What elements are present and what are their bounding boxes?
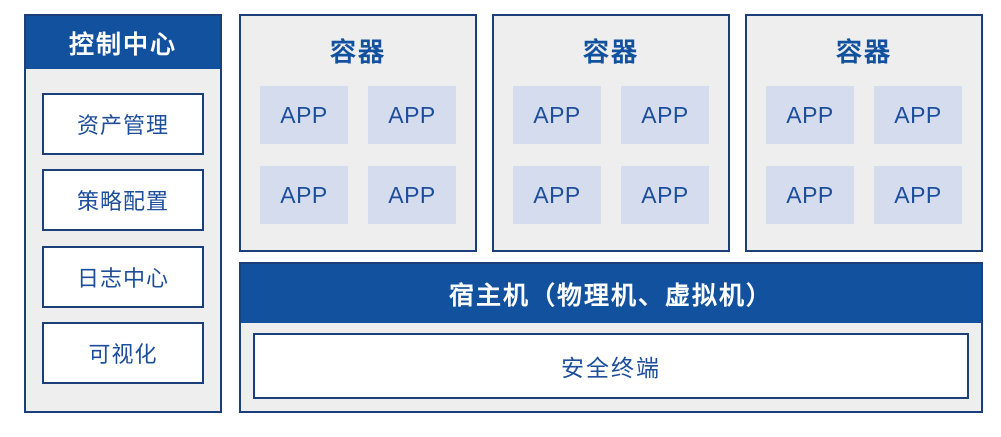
app-grid: APP APP APP APP [241,86,475,224]
control-center-title: 控制中心 [26,16,220,69]
sidebar-item-label: 资产管理 [77,108,169,140]
sidebar-item-log-center[interactable]: 日志中心 [42,246,204,308]
host-machine-title: 宿主机（物理机、虚拟机） [241,264,981,323]
app-box[interactable]: APP [368,166,456,224]
sidebar-item-label: 可视化 [88,337,157,369]
app-box[interactable]: APP [513,166,601,224]
app-box[interactable]: APP [766,166,854,224]
app-box[interactable]: APP [260,86,348,144]
sidebar-item-label: 策略配置 [77,184,169,216]
app-grid: APP APP APP APP [494,86,728,224]
sidebar-item-policy-configuration[interactable]: 策略配置 [42,169,204,231]
app-box[interactable]: APP [874,86,962,144]
control-center-item-list: 资产管理 策略配置 日志中心 可视化 [26,69,220,411]
app-box[interactable]: APP [621,166,709,224]
secure-terminal-box[interactable]: 安全终端 [253,333,969,399]
sidebar-item-visualization[interactable]: 可视化 [42,322,204,384]
sidebar-item-asset-management[interactable]: 资产管理 [42,93,204,155]
app-box[interactable]: APP [621,86,709,144]
container-title: 容器 [747,32,981,69]
host-machine-panel: 宿主机（物理机、虚拟机） 安全终端 [239,262,983,413]
app-box[interactable]: APP [766,86,854,144]
container-panel: 容器 APP APP APP APP [239,14,477,252]
app-box[interactable]: APP [874,166,962,224]
app-box[interactable]: APP [513,86,601,144]
container-panel: 容器 APP APP APP APP [745,14,983,252]
app-box[interactable]: APP [260,166,348,224]
control-center-panel: 控制中心 资产管理 策略配置 日志中心 可视化 [24,14,222,413]
container-title: 容器 [241,32,475,69]
container-title: 容器 [494,32,728,69]
sidebar-item-label: 日志中心 [77,261,169,293]
app-grid: APP APP APP APP [747,86,981,224]
container-panel: 容器 APP APP APP APP [492,14,730,252]
host-machine-body: 安全终端 [241,323,981,411]
app-box[interactable]: APP [368,86,456,144]
